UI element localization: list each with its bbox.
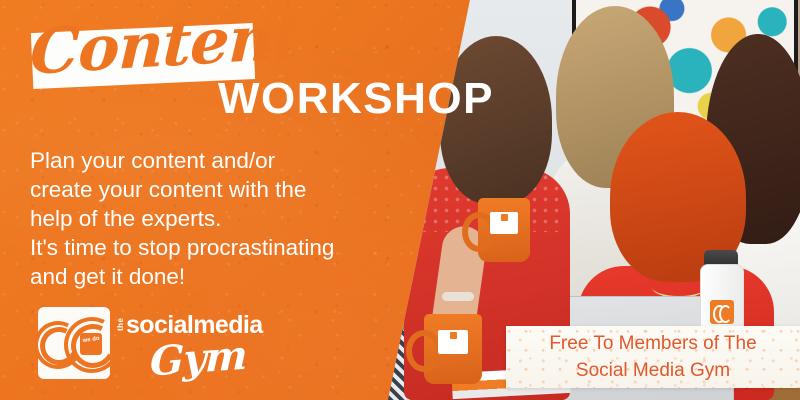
logo-gym-label: Gym <box>149 332 247 386</box>
body-copy: Plan your content and/or create your con… <box>30 146 380 291</box>
we-do-badge-label: we do <box>79 332 102 346</box>
body-line-2: create your content with the <box>30 175 380 204</box>
body-line-1: Plan your content and/or <box>30 146 380 175</box>
cc-logo-icon: we do <box>38 307 110 379</box>
mug-handle <box>406 330 442 372</box>
body-line-5: and get it done! <box>30 262 380 291</box>
body-line-4: It's time to stop procrastinating <box>30 233 380 262</box>
branded-mug-table <box>424 314 482 384</box>
mug-logo-label <box>490 212 518 234</box>
promotional-banner: Content WORKSHOP Plan your content and/o… <box>0 0 800 400</box>
mug-logo-label <box>438 330 468 354</box>
caption-line-1: Free To Members of The <box>549 330 756 357</box>
brand-logo: we do the socialmedia Gym <box>30 305 280 383</box>
headline-script: Content <box>29 6 291 84</box>
bottle-cc-logo-icon <box>710 300 734 324</box>
headline-workshop: WORKSHOP <box>218 77 494 121</box>
caption-line-2: Social Media Gym <box>576 357 730 384</box>
branded-mug-held <box>478 198 530 262</box>
logo-the-label: the <box>116 318 125 332</box>
bracelet <box>442 292 474 301</box>
body-line-3: help of the experts. <box>30 204 380 233</box>
we-do-badge: we do <box>80 333 102 355</box>
membership-caption-box: Free To Members of The Social Media Gym <box>506 326 800 388</box>
